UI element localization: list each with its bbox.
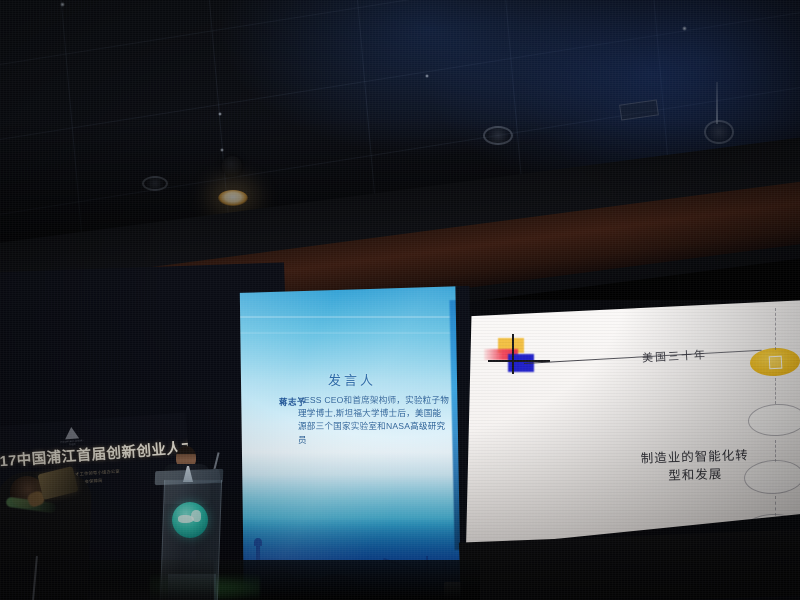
slide-title-speaker: 发言人 xyxy=(238,370,466,389)
node-connector-dashed xyxy=(775,308,776,350)
left-projection-screen: 发言人 蒋志予 VESS CEO和首席架构师，实验粒子物理学博士,斯坦福大学博士… xyxy=(238,286,466,600)
mountain-peak-logo-icon: mountain-peak-logo xyxy=(58,426,85,446)
timeline-axis-label: 美国三十年 xyxy=(642,346,708,365)
node-square-icon xyxy=(769,356,783,370)
node-connector-dashed xyxy=(775,378,776,404)
slide-speaker-bio: VESS CEO和首席架构师，实验粒子物理学博士,斯坦福大学博士后，美国能源部三… xyxy=(298,394,450,447)
audience-shadow xyxy=(84,556,214,600)
slide-heading: 制造业的智能化转 型和发展 xyxy=(605,445,784,487)
right-projection-screen: 美国三十年 制造业的智能化转 型和发展 xyxy=(466,300,800,548)
slide-heading-line-2: 型和发展 xyxy=(668,467,722,483)
teal-globe-emblem-icon xyxy=(172,502,208,538)
wall-below-right-screen xyxy=(459,529,800,600)
mindmap-node-outline xyxy=(747,403,800,438)
color-block-logo-icon xyxy=(484,338,546,374)
conference-photo-scene: mountain-peak-logo 2017中国浦江首届创新创业人才 主办：浦… xyxy=(0,0,800,600)
slide-heading-line-1: 制造业的智能化转 xyxy=(641,448,749,465)
